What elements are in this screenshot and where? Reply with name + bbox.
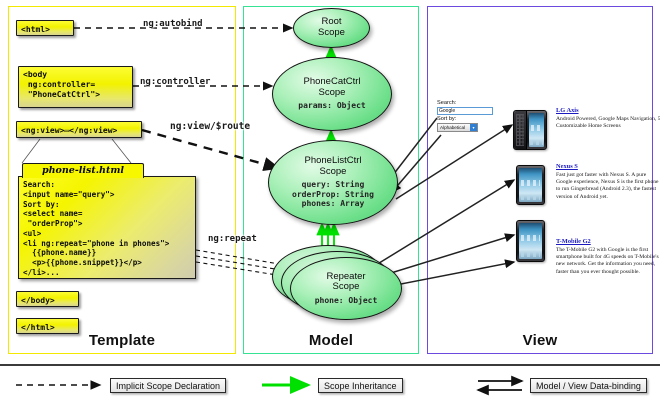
list-item: Nexus S Fast just got faster with Nexus … xyxy=(556,163,660,201)
scope-repeater: Repeater Scope phone: Object xyxy=(290,257,402,320)
phone-thumb-tmobile-g2 xyxy=(516,220,545,262)
legend-divider xyxy=(0,364,660,366)
code-html-close: </html> xyxy=(16,318,79,334)
column-label-view: View xyxy=(427,332,653,349)
phone-name-link[interactable]: LG Axis xyxy=(556,107,660,115)
device-keyboard xyxy=(514,111,527,149)
scope-root-title: Root Scope xyxy=(318,17,345,38)
sort-select-value: Alphabetical xyxy=(438,125,470,130)
legend-item-implicit: Implicit Scope Declaration xyxy=(110,378,226,393)
device-screen xyxy=(529,113,544,147)
device-screen xyxy=(519,168,542,202)
legend-label-implicit: Implicit Scope Declaration xyxy=(116,381,220,391)
phone-snippet: Fast just got faster with Nexus S. A pur… xyxy=(556,172,660,201)
note-title: phone-list.html xyxy=(23,164,143,177)
list-item: T-Mobile G2 The T-Mobile G2 with Google … xyxy=(556,238,660,276)
scope-phonecatctrl: PhoneCatCtrl Scope params: Object xyxy=(272,57,392,131)
scope-root: Root Scope xyxy=(293,8,370,48)
legend-item-databinding: Model / View Data-binding xyxy=(530,378,647,393)
scope-repeater-props: phone: Object xyxy=(315,296,378,305)
scope-phonelistctrl-title: PhoneListCtrl Scope xyxy=(304,156,361,177)
scope-phonelistctrl: PhoneListCtrl Scope query: String orderP… xyxy=(268,140,398,225)
search-input[interactable]: Google xyxy=(437,107,493,115)
edge-label-ngrepeat: ng:repeat xyxy=(208,234,257,244)
code-html-open: <html> xyxy=(16,20,74,36)
note-body: Search: <input name="query"> Sort by: <s… xyxy=(18,176,196,279)
column-label-model: Model xyxy=(243,332,419,349)
view-search-widget: Search: Google Sort by: Alphabetical ▾ xyxy=(437,100,499,132)
phone-thumb-lg-axis xyxy=(513,110,547,150)
code-body-open: <body ng:controller= "PhoneCatCtrl"> xyxy=(18,66,133,108)
sort-select[interactable]: Alphabetical ▾ xyxy=(437,123,478,132)
device-body xyxy=(513,110,547,150)
code-body-close: </body> xyxy=(16,291,79,307)
device-screen xyxy=(519,223,542,259)
code-ngview-tag: <ng:view>▭</ng:view> xyxy=(16,121,142,138)
device-body xyxy=(516,220,545,262)
edge-label-ngview-route: ng:view/$route xyxy=(170,121,250,132)
angular-concepts-diagram: Template Model View xyxy=(0,0,660,405)
phone-name-link[interactable]: T-Mobile G2 xyxy=(556,238,660,246)
legend-label-inheritance: Scope Inheritance xyxy=(324,381,397,391)
scope-phonecatctrl-props: params: Object xyxy=(298,101,365,110)
column-label-template: Template xyxy=(8,332,236,349)
edge-label-autobind: ng:autobind xyxy=(143,19,203,29)
phone-name-link[interactable]: Nexus S xyxy=(556,163,660,171)
list-item: LG Axis Android Powered, Google Maps Nav… xyxy=(556,107,660,130)
edge-label-controller: ng:controller xyxy=(140,77,210,87)
note-title-tab: phone-list.html xyxy=(22,163,144,178)
legend-item-inheritance: Scope Inheritance xyxy=(318,378,403,393)
scope-phonelistctrl-props: query: String orderProp: String phones: … xyxy=(292,180,374,208)
chevron-down-icon: ▾ xyxy=(470,124,477,131)
sort-label: Sort by: xyxy=(437,116,499,123)
legend-label-databinding: Model / View Data-binding xyxy=(536,381,641,391)
note-code: Search: <input name="query"> Sort by: <s… xyxy=(23,180,191,278)
scope-phonecatctrl-title: PhoneCatCtrl Scope xyxy=(303,77,360,98)
device-body xyxy=(516,165,545,205)
phone-thumb-nexus-s xyxy=(516,165,545,205)
note-phone-list-html: phone-list.html Search: <input name="que… xyxy=(18,163,198,283)
scope-repeater-title: Repeater Scope xyxy=(326,272,365,293)
search-label: Search: xyxy=(437,100,499,107)
phone-snippet: Android Powered, Google Maps Navigation,… xyxy=(556,116,660,130)
phone-snippet: The T-Mobile G2 with Google is the first… xyxy=(556,247,660,276)
